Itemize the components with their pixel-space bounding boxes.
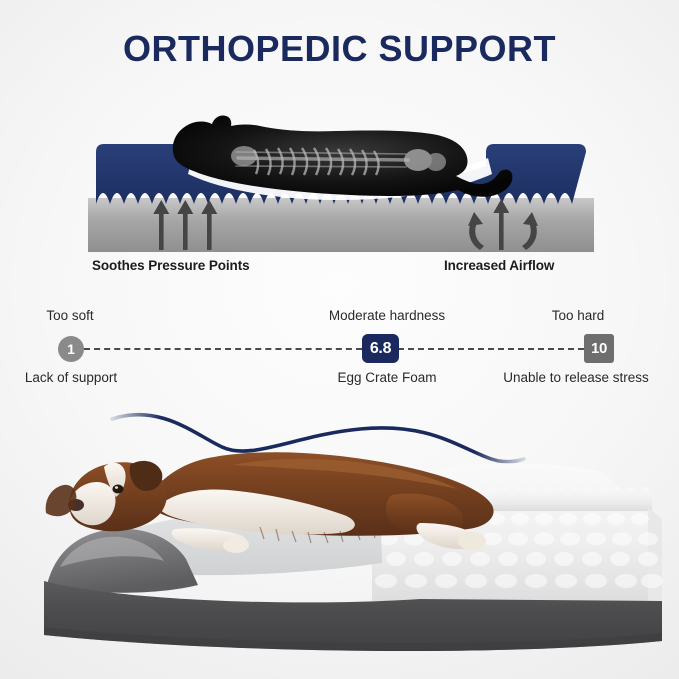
dog-paw [458,532,486,550]
scale-bottom-label-egg-crate-foam: Egg Crate Foam [287,370,487,385]
scale-dashed-segment-right [398,348,584,350]
feature-label-pressure-points: Soothes Pressure Points [92,258,250,273]
dog-eye [113,485,124,494]
scapula-bone [231,146,257,166]
scale-top-label-moderate: Moderate hardness [287,308,487,323]
scale-marker-6-8: 6.8 [362,334,399,363]
scale-bottom-label-unable-to-release-stress: Unable to release stress [466,370,679,385]
scale-top-label-too-soft: Too soft [0,308,140,323]
page-title: ORTHOPEDIC SUPPORT [0,28,679,70]
feature-label-airflow: Increased Airflow [444,258,554,273]
mattress-cross-section-diagram [88,100,594,250]
scale-marker-10: 10 [584,334,614,363]
scale-bottom-label-lack-of-support: Lack of support [0,370,156,385]
dog-front-paw [223,537,249,553]
dog-on-orthopedic-bed-photo [0,395,679,679]
scale-dashed-segment-left [84,348,362,350]
up-arrows-icon [153,200,217,250]
firmness-scale: Too soft Moderate hardness Too hard 1 6.… [0,308,679,388]
scale-top-label-too-hard: Too hard [508,308,648,323]
scale-marker-1: 1 [58,336,84,362]
